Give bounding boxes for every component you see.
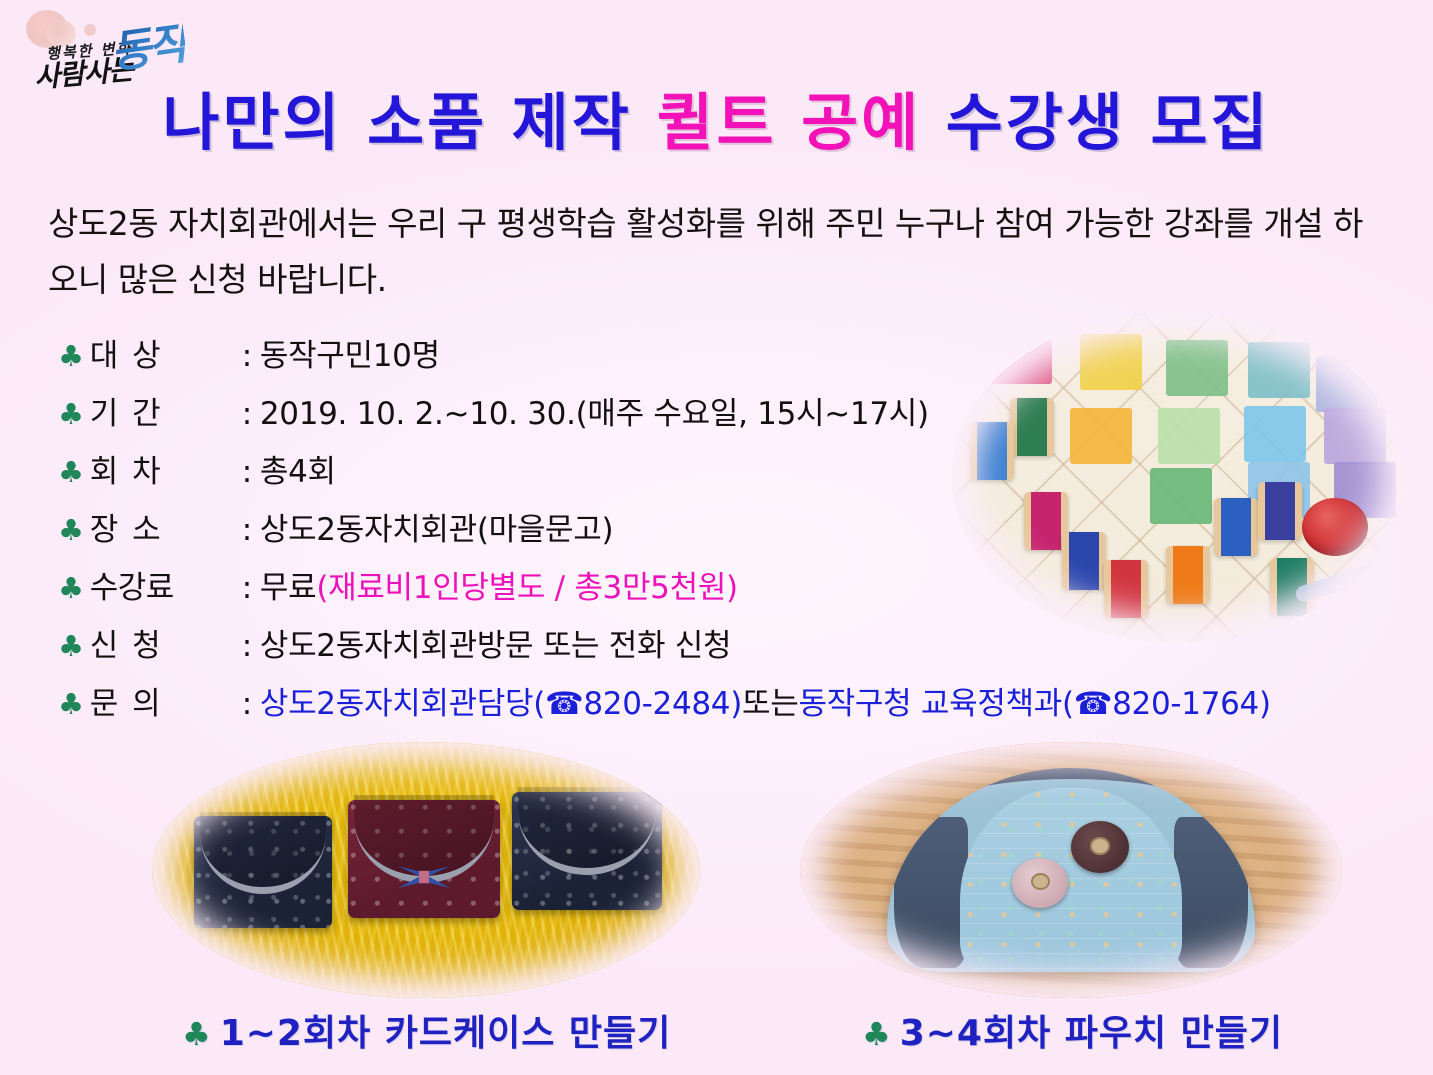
pouch-side-panel bbox=[1174, 817, 1248, 969]
thread-spool-icon bbox=[970, 422, 1014, 480]
title-part-1: 나만의 소품 제작 bbox=[162, 86, 656, 159]
quilted-pouch-item bbox=[887, 768, 1256, 973]
clover-bullet-icon: ♣ bbox=[58, 400, 84, 429]
clover-bullet-icon: ♣ bbox=[58, 690, 84, 719]
caption-pouch: ♣3~4회차 파우치 만들기 bbox=[862, 1004, 1283, 1056]
card-case-flap bbox=[200, 812, 327, 895]
list-item-label: 회 차 bbox=[90, 446, 242, 491]
dongjak-district-logo: 행복한 변화 사람사는 동작 bbox=[22, 6, 192, 86]
thread-spool-icon bbox=[1258, 482, 1302, 540]
fabric-flower-icon bbox=[1071, 821, 1129, 873]
clover-bullet-icon: ♣ bbox=[58, 458, 84, 487]
card-case-flap bbox=[354, 795, 494, 882]
contact-phone-center: 상도2동자치회관담당(☎820-2484) bbox=[260, 678, 742, 723]
list-item-label: 신 청 bbox=[90, 620, 242, 665]
quilt-patch bbox=[1150, 468, 1212, 524]
list-item-colon: : bbox=[242, 686, 252, 722]
thread-spool-icon bbox=[1104, 560, 1148, 618]
button-icon bbox=[1031, 873, 1050, 890]
caption-card-cases-text: 1~2회차 카드케이스 만들기 bbox=[220, 1013, 672, 1054]
list-item-value: 동작구민10명 bbox=[260, 330, 440, 375]
quilt-illustration-photo bbox=[952, 312, 1404, 642]
card-case-item bbox=[194, 816, 332, 928]
quilt-patch bbox=[1166, 340, 1228, 396]
quilt-patch bbox=[1158, 408, 1220, 464]
list-item-colon: : bbox=[242, 570, 252, 606]
caption-pouch-text: 3~4회차 파우치 만들기 bbox=[900, 1013, 1283, 1054]
quilt-patch bbox=[1324, 408, 1386, 464]
title-highlight: 퀼트 공예 bbox=[656, 86, 921, 159]
list-item-colon: : bbox=[242, 628, 252, 664]
list-item-value-material-cost: (재료비1인당별도 / 총3만5천원) bbox=[316, 562, 738, 607]
thread-spool-icon bbox=[1062, 532, 1106, 590]
thread-spool-icon bbox=[1010, 398, 1054, 456]
card-case-sample-photo bbox=[152, 742, 700, 998]
clover-bullet-icon: ♣ bbox=[182, 1015, 212, 1053]
list-item-value: 상도2동자치회관(마을문고) bbox=[260, 504, 613, 549]
clover-bullet-icon: ♣ bbox=[58, 574, 84, 603]
list-item-label: 기 간 bbox=[90, 388, 242, 433]
quilt-patch bbox=[1316, 356, 1378, 412]
quilt-patch bbox=[1080, 334, 1142, 390]
fabric-flower-icon bbox=[1012, 858, 1068, 908]
thread-spool-icon bbox=[1214, 498, 1258, 556]
list-item-colon: : bbox=[242, 454, 252, 490]
thread-spool-icon bbox=[1166, 546, 1210, 604]
list-item-colon: : bbox=[242, 396, 252, 432]
card-case-item bbox=[348, 800, 500, 918]
quilt-image-content bbox=[952, 312, 1404, 642]
page-title: 나만의 소품 제작 퀼트 공예 수강생 모집 bbox=[0, 92, 1433, 154]
quilt-patch bbox=[1248, 342, 1310, 398]
clover-bullet-icon: ♣ bbox=[58, 632, 84, 661]
quilt-patch bbox=[1070, 408, 1132, 464]
list-item-value: 무료 bbox=[260, 562, 316, 607]
pouch-sample-photo bbox=[800, 742, 1342, 998]
list-item-label: 대 상 bbox=[90, 330, 242, 375]
list-item-label: 문 의 bbox=[90, 678, 242, 723]
logo-dot-icon bbox=[84, 24, 96, 36]
list-item-colon: : bbox=[242, 512, 252, 548]
intro-paragraph: 상도2동 자치회관에서는 우리 구 평생학습 활성화를 위해 주민 누구나 참여… bbox=[48, 196, 1388, 308]
list-item-label: 장 소 bbox=[90, 504, 242, 549]
title-part-2: 수강생 모집 bbox=[921, 86, 1270, 159]
list-item-colon: : bbox=[242, 338, 252, 374]
list-item-value: 총4회 bbox=[260, 446, 336, 491]
pouch-side-panel bbox=[894, 817, 968, 969]
quilt-patch bbox=[1244, 406, 1306, 462]
clover-bullet-icon: ♣ bbox=[58, 342, 84, 371]
list-item-contact: ♣ 문 의 : 상도2동자치회관담당(☎820-2484) 또는 동작구청 교육… bbox=[58, 678, 1408, 736]
list-item-value: 2019. 10. 2.~10. 30.(매주 수요일, 15시~17시) bbox=[260, 388, 929, 433]
clover-bullet-icon: ♣ bbox=[862, 1015, 892, 1053]
logo-district-name: 동작 bbox=[106, 7, 189, 81]
contact-conjunction: 또는 bbox=[742, 678, 798, 723]
pincushion-icon bbox=[1302, 498, 1368, 556]
card-case-flap bbox=[518, 787, 656, 874]
card-case-item bbox=[512, 792, 662, 910]
list-item-label: 수강료 bbox=[90, 562, 242, 607]
caption-card-cases: ♣1~2회차 카드케이스 만들기 bbox=[182, 1004, 671, 1056]
quilt-patch bbox=[990, 328, 1052, 384]
list-item-value: 상도2동자치회관방문 또는 전화 신청 bbox=[260, 620, 731, 665]
button-icon bbox=[1090, 837, 1110, 855]
poster-root: 행복한 변화 사람사는 동작 나만의 소품 제작 퀼트 공예 수강생 모집 상도… bbox=[0, 0, 1433, 1075]
contact-phone-office: 동작구청 교육정책과(☎820-1764) bbox=[798, 678, 1270, 723]
clover-bullet-icon: ♣ bbox=[58, 516, 84, 545]
